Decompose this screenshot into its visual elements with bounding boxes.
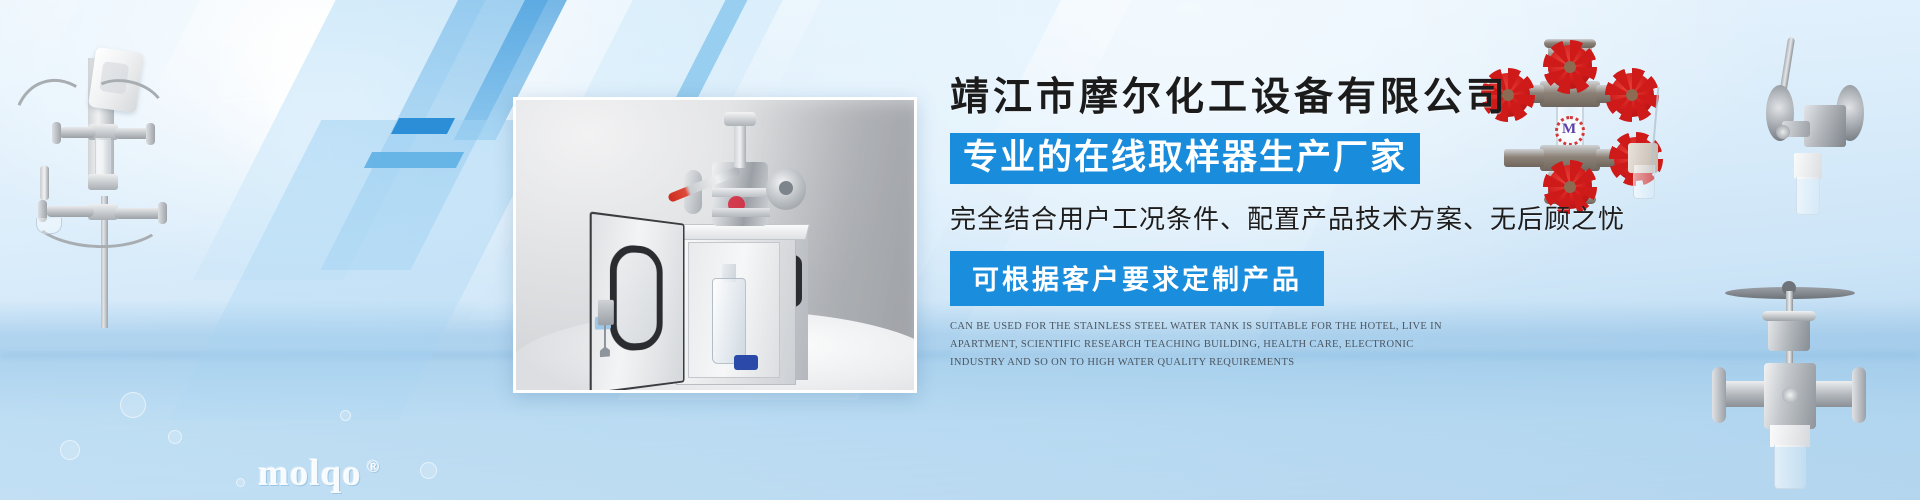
- discharge-collar: [1794, 153, 1822, 179]
- cabinet-door: [590, 211, 685, 393]
- banner-text-block: 靖江市摩尔化工设备有限公司 专业的在线取样器生产厂家 完全结合用户工况条件、配置…: [950, 76, 1710, 372]
- tagline-highlight: 专业的在线取样器生产厂家: [950, 133, 1420, 184]
- brand-seal-icon: [1782, 387, 1798, 403]
- brand-watermark-text: molqo: [258, 453, 362, 494]
- brand-seal-icon: [1776, 125, 1790, 139]
- sample-jar: [1796, 177, 1820, 215]
- product-photo[interactable]: [513, 97, 917, 393]
- cabinet-top-panel: [674, 224, 810, 240]
- discharge-collar: [1770, 425, 1810, 447]
- valve-flange-right: [766, 168, 806, 210]
- door-key-icon: [600, 325, 610, 357]
- sample-glass: [36, 218, 62, 234]
- door-lock-icon: [598, 300, 614, 326]
- valve-nameplate: [712, 188, 770, 197]
- valve-nameplate: [712, 208, 770, 217]
- left-equipment-image: [0, 18, 200, 328]
- bonnet-ring: [1762, 311, 1816, 321]
- hero-banner: M: [0, 0, 1920, 500]
- cabinet-door-window: [610, 243, 663, 352]
- company-name: 靖江市摩尔化工设备有限公司: [950, 76, 1710, 120]
- registered-trademark-icon: ®: [367, 457, 381, 476]
- right-equipment-lever-valve: [1756, 25, 1916, 255]
- sample-bottle: [712, 278, 746, 364]
- brand-watermark: molqo®: [258, 452, 380, 495]
- customize-cta-button[interactable]: 可根据客户要求定制产品: [950, 251, 1324, 306]
- flange: [1712, 367, 1726, 423]
- sample-jar: [1774, 445, 1806, 489]
- relief-valve: [40, 166, 49, 200]
- subline-text: 完全结合用户工况条件、配置产品技术方案、无后顾之忧: [950, 199, 1710, 236]
- valve-knob: [724, 112, 756, 126]
- english-description: CAN BE USED FOR THE STAINLESS STEEL WATE…: [950, 318, 1450, 372]
- right-equipment-gate-valve: [1700, 275, 1920, 500]
- flange: [1852, 367, 1866, 423]
- sample-bottle-cap: [734, 355, 758, 370]
- valve-stem: [734, 122, 746, 168]
- valve-body: [1804, 105, 1846, 147]
